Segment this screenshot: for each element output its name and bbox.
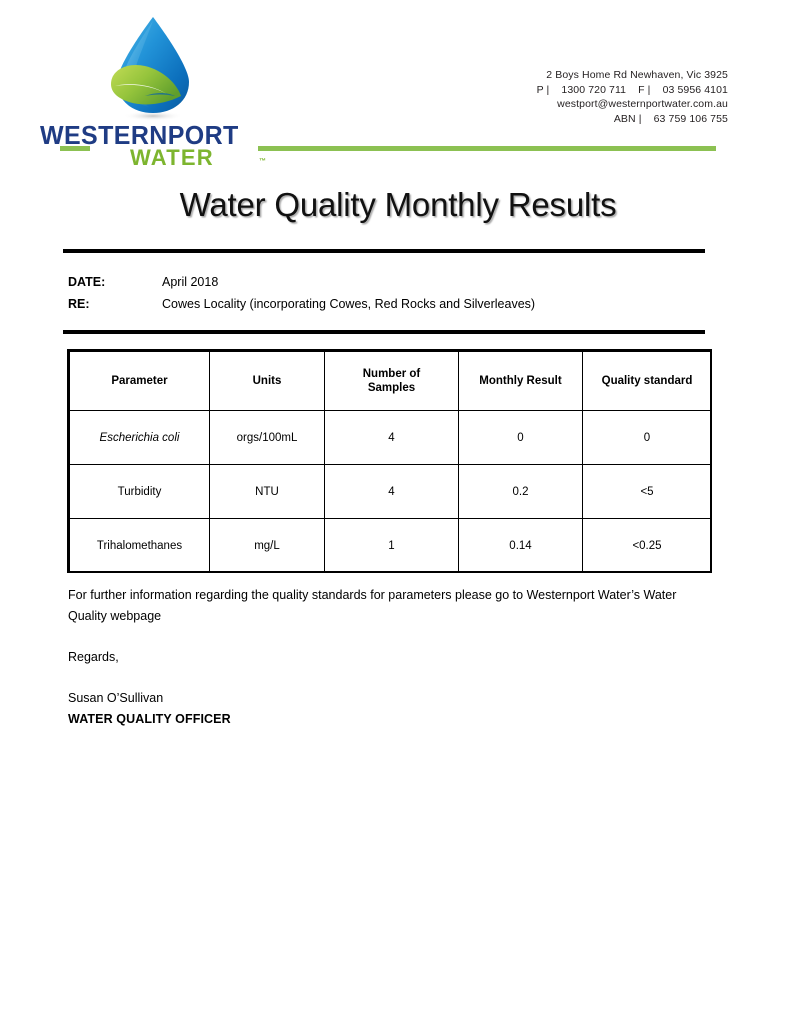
column-header-quality-standard: Quality standard <box>583 352 712 411</box>
cell-parameter: Trihalomethanes <box>70 519 210 573</box>
closing-text: For further information regarding the qu… <box>68 585 693 730</box>
contact-email: westport@westernportwater.com.au <box>537 97 728 112</box>
cell-parameter: Escherichia coli <box>70 411 210 465</box>
table-header-row: Parameter Units Number of Samples Monthl… <box>70 352 712 411</box>
table-row: Turbidity NTU 4 0.2 <5 <box>70 465 712 519</box>
re-label: RE: <box>68 293 162 315</box>
page-title: Water Quality Monthly Results <box>0 186 796 224</box>
contact-phone-fax: P | 1300 720 711 F | 03 5956 4101 <box>537 83 728 98</box>
meta-row-re: RE: Cowes Locality (incorporating Cowes,… <box>68 293 708 315</box>
cell-samples: 4 <box>325 411 459 465</box>
divider-above-meta <box>63 249 705 253</box>
cell-parameter: Turbidity <box>70 465 210 519</box>
fax-label: F | <box>638 84 650 96</box>
cell-units: mg/L <box>210 519 325 573</box>
cell-units: orgs/100mL <box>210 411 325 465</box>
regards-line: Regards, <box>68 647 693 668</box>
cell-quality-standard: <0.25 <box>583 519 712 573</box>
fax-number: 03 5956 4101 <box>663 84 728 96</box>
date-label: DATE: <box>68 271 162 293</box>
further-information-paragraph: For further information regarding the qu… <box>68 585 693 627</box>
trademark-symbol: ™ <box>259 158 266 165</box>
cell-monthly-result: 0.2 <box>459 465 583 519</box>
signature-role: WATER QUALITY OFFICER <box>68 709 693 730</box>
green-header-rule <box>258 146 716 151</box>
table-row: Escherichia coli orgs/100mL 4 0 0 <box>70 411 712 465</box>
cell-monthly-result: 0 <box>459 411 583 465</box>
column-header-units: Units <box>210 352 325 411</box>
phone-number: 1300 720 711 <box>561 84 626 96</box>
water-quality-results-table: Parameter Units Number of Samples Monthl… <box>69 351 712 573</box>
table-row: Trihalomethanes mg/L 1 0.14 <0.25 <box>70 519 712 573</box>
signature-name: Susan O’Sullivan <box>68 688 693 709</box>
abn-number: 63 759 106 755 <box>654 113 728 125</box>
green-accent-dash <box>60 146 90 151</box>
divider-below-meta <box>63 330 705 334</box>
water-droplet-leaf-icon <box>105 12 201 124</box>
contact-address: 2 Boys Home Rd Newhaven, Vic 3925 <box>537 68 728 83</box>
cell-units: NTU <box>210 465 325 519</box>
contact-abn: ABN | 63 759 106 755 <box>537 112 728 127</box>
brand-name-secondary: WATER <box>130 145 214 171</box>
abn-label: ABN | <box>614 113 642 125</box>
company-logo: WESTERNPORT WATER ™ <box>38 12 268 160</box>
cell-quality-standard: 0 <box>583 411 712 465</box>
cell-quality-standard: <5 <box>583 465 712 519</box>
header-line-2: Samples <box>368 382 415 394</box>
document-meta: DATE: April 2018 RE: Cowes Locality (inc… <box>68 271 708 315</box>
column-header-parameter: Parameter <box>70 352 210 411</box>
cell-samples: 1 <box>325 519 459 573</box>
brand-wordmark: WESTERNPORT WATER ™ <box>38 122 274 168</box>
date-value: April 2018 <box>162 271 218 293</box>
cell-samples: 4 <box>325 465 459 519</box>
cell-monthly-result: 0.14 <box>459 519 583 573</box>
page-header: WESTERNPORT WATER ™ 2 Boys Home Rd Newha… <box>0 0 796 168</box>
meta-row-date: DATE: April 2018 <box>68 271 708 293</box>
phone-label: P | <box>537 84 550 96</box>
re-value: Cowes Locality (incorporating Cowes, Red… <box>162 293 535 315</box>
header-line-1: Number of <box>363 368 421 380</box>
column-header-monthly-result: Monthly Result <box>459 352 583 411</box>
column-header-number-of-samples: Number of Samples <box>325 352 459 411</box>
contact-details: 2 Boys Home Rd Newhaven, Vic 3925 P | 13… <box>537 68 728 126</box>
